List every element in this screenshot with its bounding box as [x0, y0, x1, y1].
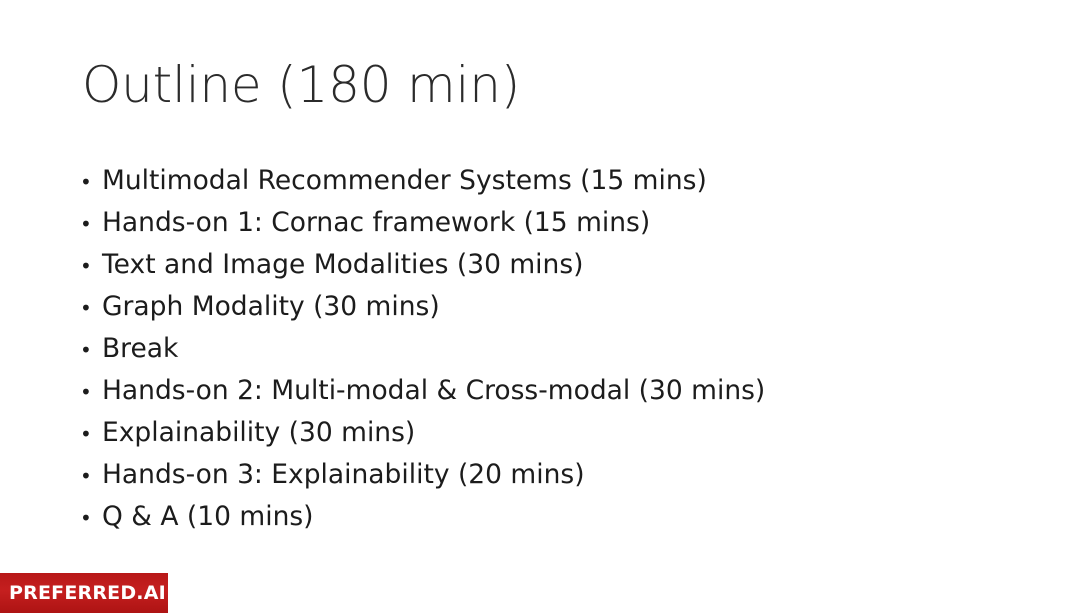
- bullet-dot-icon: •: [80, 161, 102, 203]
- bullet-dot-icon: •: [80, 287, 102, 329]
- page-title: Outline (180 min): [82, 56, 520, 115]
- outline-bullet-list: • Multimodal Recommender Systems (15 min…: [80, 160, 980, 538]
- list-item-label: Break: [102, 328, 178, 370]
- list-item-label: Q & A (10 mins): [102, 496, 314, 538]
- bullet-dot-icon: •: [80, 329, 102, 371]
- list-item: • Graph Modality (30 mins): [80, 286, 980, 328]
- bullet-dot-icon: •: [80, 455, 102, 497]
- list-item-label: Graph Modality (30 mins): [102, 286, 440, 328]
- list-item-label: Hands-on 2: Multi-modal & Cross-modal (3…: [102, 370, 765, 412]
- list-item: • Hands-on 1: Cornac framework (15 mins): [80, 202, 980, 244]
- list-item: • Break: [80, 328, 980, 370]
- list-item: • Text and Image Modalities (30 mins): [80, 244, 980, 286]
- presentation-slide: Outline (180 min) • Multimodal Recommend…: [0, 0, 1080, 613]
- list-item: • Q & A (10 mins): [80, 496, 980, 538]
- list-item: • Hands-on 3: Explainability (20 mins): [80, 454, 980, 496]
- list-item: • Multimodal Recommender Systems (15 min…: [80, 160, 980, 202]
- bullet-dot-icon: •: [80, 371, 102, 413]
- list-item-label: Text and Image Modalities (30 mins): [102, 244, 583, 286]
- logo-label: PREFERRED.AI: [0, 582, 166, 604]
- list-item: • Hands-on 2: Multi-modal & Cross-modal …: [80, 370, 980, 412]
- bullet-dot-icon: •: [80, 245, 102, 287]
- bullet-dot-icon: •: [80, 413, 102, 455]
- list-item-label: Hands-on 3: Explainability (20 mins): [102, 454, 585, 496]
- bullet-dot-icon: •: [80, 203, 102, 245]
- list-item-label: Hands-on 1: Cornac framework (15 mins): [102, 202, 650, 244]
- list-item: • Explainability (30 mins): [80, 412, 980, 454]
- bullet-dot-icon: •: [80, 497, 102, 539]
- preferred-ai-logo: PREFERRED.AI: [0, 573, 168, 613]
- list-item-label: Multimodal Recommender Systems (15 mins): [102, 160, 707, 202]
- list-item-label: Explainability (30 mins): [102, 412, 415, 454]
